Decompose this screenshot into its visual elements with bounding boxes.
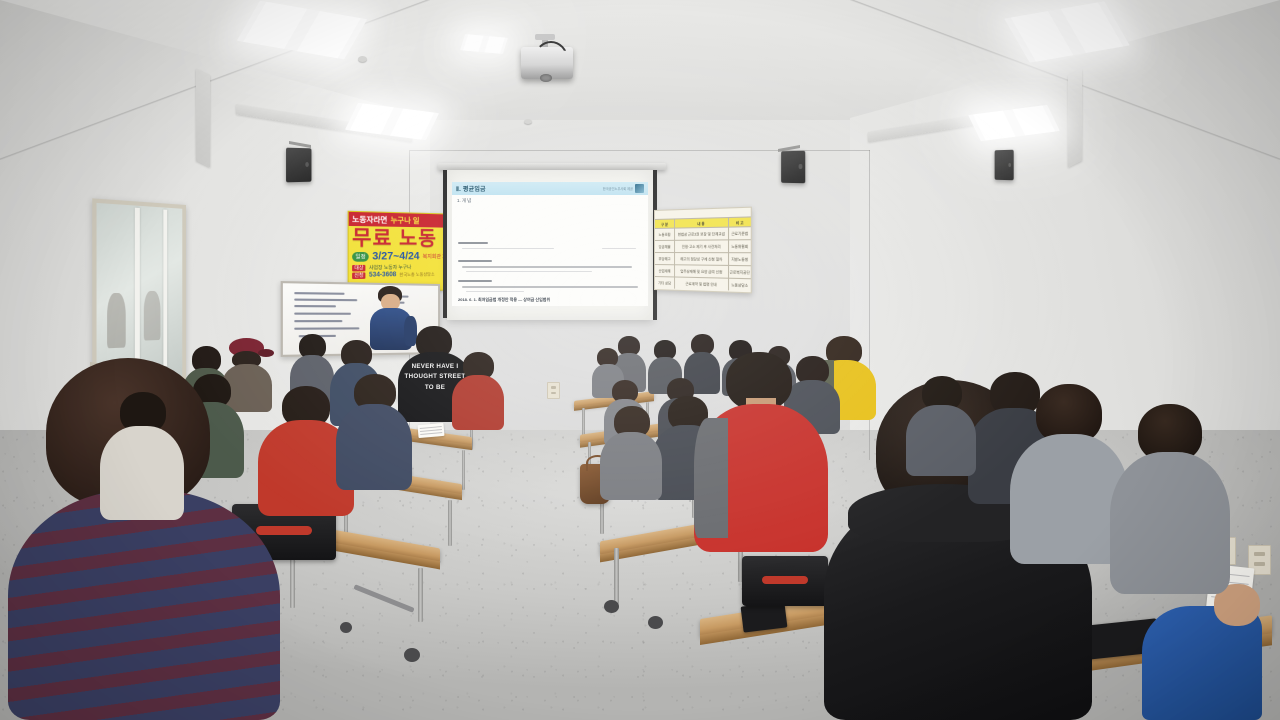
screen-roller-case [438,163,666,170]
slide-logo-text: 한국공인노무사회 제공 [603,186,633,191]
slide-block-line [466,271,592,272]
sprinkler-head-left [358,56,367,62]
slide-block-line [462,248,554,249]
vest-inner-sleeve [694,418,728,538]
projector-lens [540,74,552,82]
banner-row-target-tag: 대상 [352,265,366,272]
ceiling-wall-seam-left [0,0,430,160]
smartphone [741,601,788,632]
poster-cell: 근로기준법 [729,227,751,239]
slide-block-heading [458,260,492,262]
slide-header: Ⅱ. 평균임금 한국공인노무사회 제공 [452,182,648,195]
torso [600,432,662,500]
desk-leg [614,548,619,604]
poster-row: 기타 상담 근로계약 및 법령 안내 노동상담소 [655,276,751,291]
poster-cell: 노동위원회 [729,240,751,252]
desk-leg [448,500,452,546]
poster-col-header: 비 고 [729,217,751,226]
poster-cell: 근로계약 및 법령 안내 [675,277,729,290]
window-reflection-a [107,293,126,348]
poster-cell: 부당해고 [655,253,675,264]
audience-member [100,392,184,520]
desk-leg [462,450,465,490]
poster-row: 부당해고 해고의 정당성 구제 신청 절차 지방노동청 [655,252,751,265]
slide-block-line [602,248,636,249]
audience-member [452,352,504,430]
poster-header-row: 구 분 내 용 비 고 [655,216,751,228]
desk-leg [290,556,295,608]
torso [8,490,280,720]
poster-cell: 해고의 정당성 구제 신청 절차 [675,253,729,265]
chair-caster [340,622,352,633]
student-chair [742,556,828,606]
banner-top-line-a: 노동자라면 [352,214,387,225]
ceiling-beam-left [196,69,210,168]
poster-cell: 헌법상 근로3권 보장 및 단체교섭 [675,228,729,240]
handout-papers [417,423,444,438]
poster-cell: 산업재해 [655,265,675,276]
window-reflection-b [144,291,161,341]
speaker-far-right [995,150,1014,181]
slide-subtitle: 1. 개 념 [457,198,471,204]
poster-cell: 기타 상담 [655,277,675,289]
chair-caster [648,616,663,629]
speaker-right [781,151,805,184]
window-mullion-vertical [135,208,140,368]
audience-member [1110,404,1230,594]
poster-cell: 업무상재해 및 요양 급여 신청 [675,265,729,277]
poster-col-header: 구 분 [655,219,675,228]
slide-block-line [466,291,524,292]
poster-col-header: 내 용 [675,218,729,228]
ceiling-beam-right [1068,69,1082,168]
torso [1110,452,1230,594]
poster-cell: 노동조합 [655,229,675,240]
chair-caster [604,600,619,613]
poster-cell: 임금체불 [655,241,675,252]
whiteboard-note-line [294,313,351,315]
banner-row-target-value: 사업장 노동자 누구나 [369,264,411,271]
presentation-slide: Ⅱ. 평균임금 한국공인노무사회 제공 1. 개 념 2018. 6. 1. 최… [452,182,648,306]
banner-top-line-b: 누구나 일 [391,215,420,226]
poster-row: 노동조합 헌법상 근로3권 보장 및 단체교섭 근로기준법 [655,226,751,240]
whiteboard-note-line [294,320,342,322]
classroom-photo: 노동자라면 누구나 일 무료 노동 일정 3/27~4/24 복지회관 2층 대… [0,0,1280,720]
projection-screen: Ⅱ. 평균임금 한국공인노무사회 제공 1. 개 념 2018. 6. 1. 최… [447,170,653,320]
audience-member [336,374,412,490]
slide-logo-mark [635,184,644,193]
torso [100,426,184,520]
poster-row: 산업재해 업무상재해 및 요양 급여 신청 근로복지공단 [655,264,751,278]
wall-chart-poster: 구 분 내 용 비 고 노동조합 헌법상 근로3권 보장 및 단체교섭 근로기준… [654,207,752,294]
slide-block-heading [458,242,488,244]
sprinkler-head-center [524,119,532,124]
whiteboard-note-line [294,292,344,295]
audience-member-red-vest [694,352,828,552]
chair-handle-slot [762,576,808,584]
window-sash-edge [163,209,167,366]
whiteboard-note-line [294,327,359,329]
banner-row-contact-value: 534-3608 [369,272,396,279]
poster-row: 임금체불 진정·고소 제기 후 사건처리 노동위원회 [655,239,751,252]
poster-cell: 근로복지공단 [729,266,751,278]
torso [336,404,412,490]
poster-cell: 노동상담소 [729,279,751,291]
slide-block-line [462,266,632,268]
banner-row-contact-tag: 신청 [352,272,366,279]
chair-caster [404,648,420,662]
speaker-left [286,148,311,183]
banner-schedule-dates: 3/27~4/24 [372,251,419,263]
poster-cell: 지방노동청 [729,253,751,265]
audience-member [906,376,976,476]
poster-cell: 진정·고소 제기 후 사건처리 [675,240,729,252]
slide-footer: 2018. 6. 1. 최저임금법 개정안 적용 — 상여금 산입범위 [458,297,644,303]
whiteboard-note-line [294,305,336,307]
slide-title: Ⅱ. 평균임금 [456,184,486,193]
desk-leg [418,568,423,622]
banner-schedule-pill: 일정 [352,252,369,262]
wall-outlet-back [547,382,560,399]
slide-block-heading [458,280,492,282]
torso [906,405,976,476]
torso [452,375,504,430]
slide-logo: 한국공인노무사회 제공 [603,184,644,193]
banner-organizer: 한국노총 노동상담소 [399,271,434,278]
audience-member [600,406,662,500]
slide-block-line [462,286,638,288]
whiteboard-note-line [294,299,357,302]
